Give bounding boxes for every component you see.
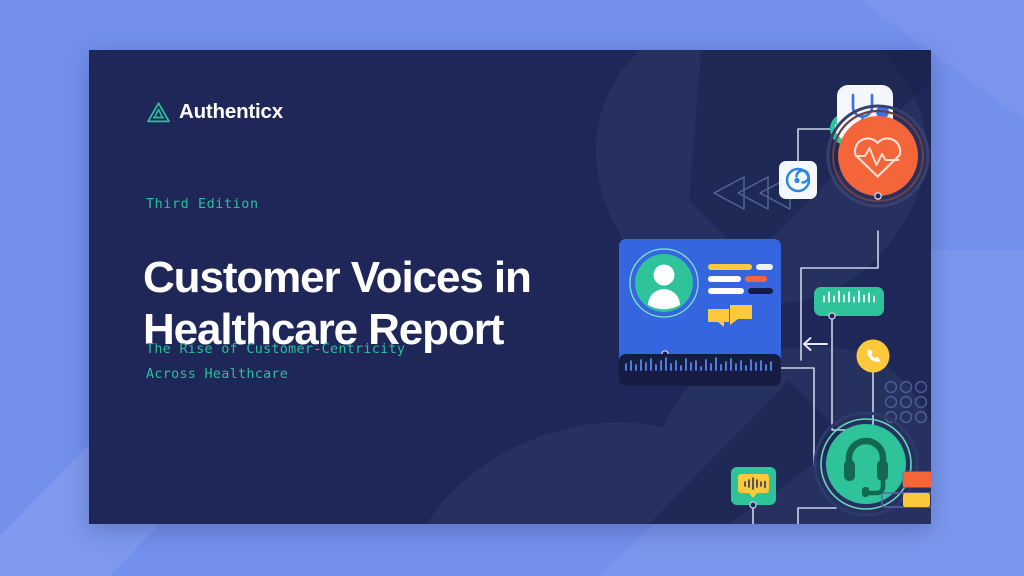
speech-waveform-icon: [731, 467, 776, 508]
profile-text-rows: [708, 264, 773, 294]
sentiment-bar-negative: [903, 472, 931, 487]
report-cover-card: Authenticx Third Edition Customer Voices…: [89, 50, 931, 524]
waveform-pill-icon: [814, 287, 884, 319]
arrow-left-icon: [804, 338, 827, 350]
rewind-triangles-icon: [714, 177, 790, 209]
brand-wordmark: Authenticx: [179, 102, 283, 123]
edition-eyebrow: Third Edition: [146, 198, 259, 211]
cover-text-column: Authenticx Third Edition Customer Voices…: [146, 50, 586, 524]
dot-grid-decoration: [886, 382, 927, 423]
customer-profile-card: [619, 239, 781, 386]
headset-agent-icon: [815, 413, 917, 515]
brand-logo: Authenticx: [146, 101, 283, 124]
page-subtitle: The Rise of Customer-Centricity Across H…: [146, 338, 476, 388]
cover-illustration: [586, 50, 931, 524]
phone-call-icon: [857, 340, 890, 373]
authenticx-triangle-logo-icon: [146, 101, 171, 124]
spiral-chat-icon: [779, 161, 817, 199]
heartbeat-icon: [828, 106, 928, 206]
